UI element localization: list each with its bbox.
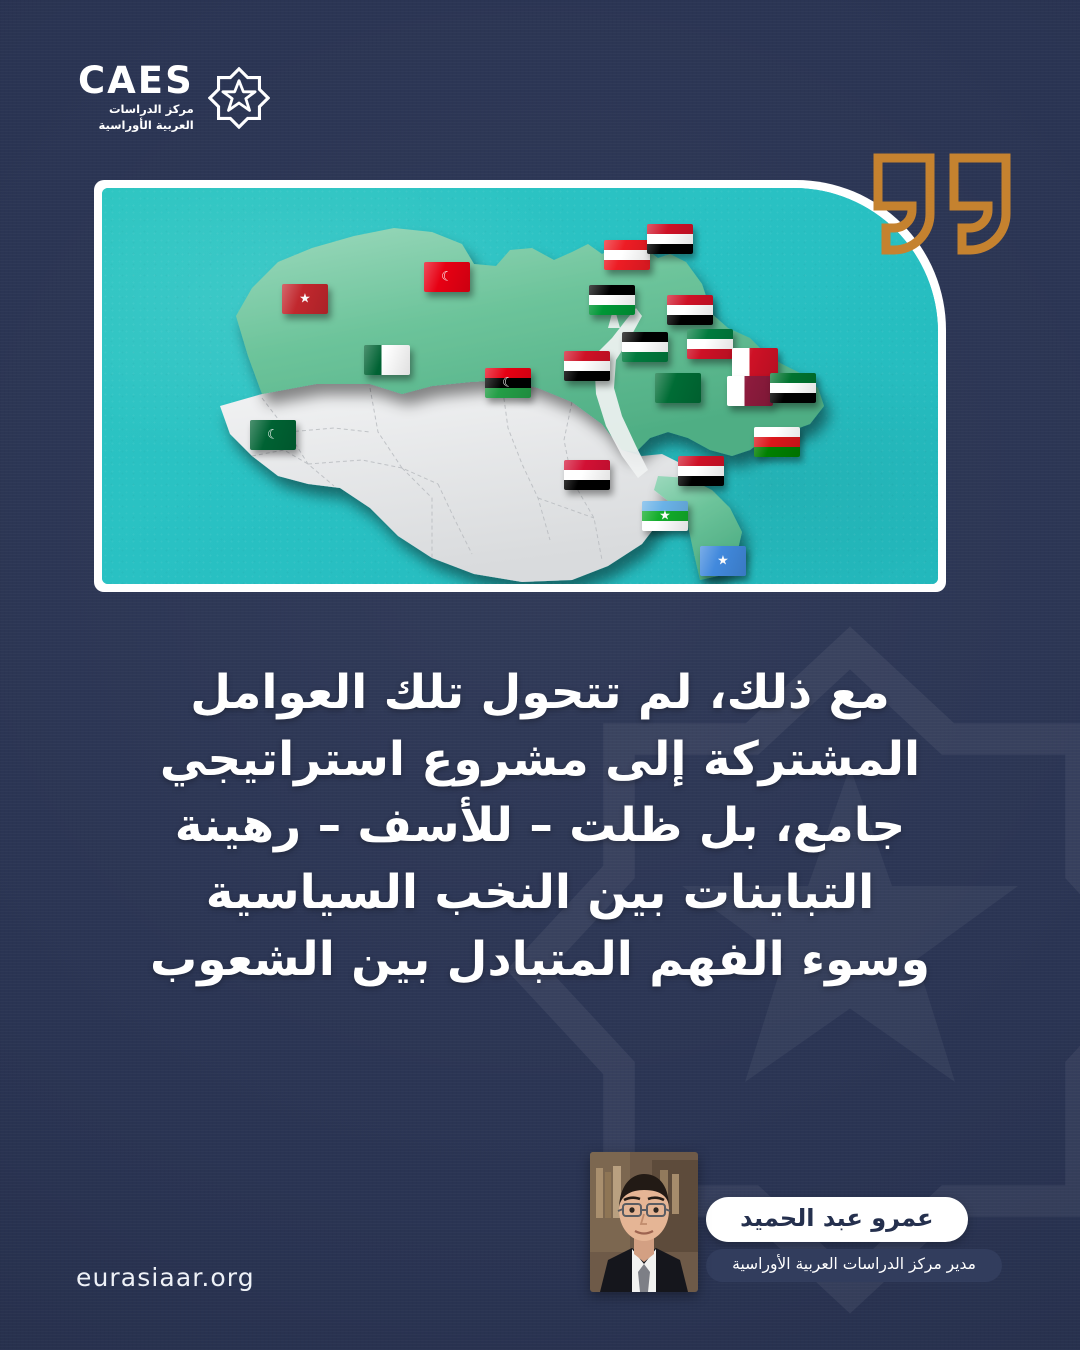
flag-yemen [678,456,724,486]
quote-line-4: التباينات بين النخب السياسية [60,860,1020,927]
flag-iraq [667,295,713,325]
quote-line-2: المشتركة إلى مشروع استراتيجي [60,727,1020,794]
flag-shine [678,456,724,486]
flag-libya: ☾ [485,368,531,398]
flag-shine [604,240,650,270]
flag-palestine [589,285,635,315]
flag-shine [754,427,800,457]
flag-sudan [564,460,610,490]
quote-line-5: وسوء الفهم المتبادل بين الشعوب [60,927,1020,994]
logo-arabic-name: مركز الدراسات العربية الأوراسية [99,102,194,133]
flag-syria [647,224,693,254]
flag-lebanon [604,240,650,270]
flag-kuwait [687,329,733,359]
flag-shine [700,546,746,576]
flag-mauritania: ☾ [250,420,296,450]
flag-shine [655,373,701,403]
flag-shine [564,460,610,490]
flag-morocco: ★ [282,284,328,314]
map-image: ★☾☾☾☾★★ [102,188,938,584]
flag-somalia: ★ [700,546,746,576]
flag-jordan [622,332,668,362]
flag-oman [754,427,800,457]
author-block: عمرو عبد الحميد مدير مركز الدراسات العرب… [590,1152,1002,1292]
flag-saudi-arabia [655,373,701,403]
flag-shine [622,332,668,362]
flag-shine [770,373,816,403]
flag-qatar [727,376,773,406]
flag-shine [642,501,688,531]
flag-uae [770,373,816,403]
quote-line-1: مع ذلك، لم تتحول تلك العوامل [60,660,1020,727]
flag-shine [667,295,713,325]
flag-shine [727,376,773,406]
flag-egypt [564,351,610,381]
author-texts: عمرو عبد الحميد مدير مركز الدراسات العرب… [706,1197,1002,1283]
flag-shine [589,285,635,315]
flag-djibouti: ★ [642,501,688,531]
quote-line-3: جامع، بل ظلت – للأسف – رهينة [60,793,1020,860]
logo-text: CAES مركز الدراسات العربية الأوراسية [78,62,194,133]
flag-shine [424,262,470,292]
author-name: عمرو عبد الحميد [706,1197,967,1242]
flag-tunisia: ☾ [424,262,470,292]
flag-shine [647,224,693,254]
flag-shine [250,420,296,450]
logo-arabic-line-2: العربية الأوراسية [99,118,194,134]
logo-wordmark: CAES [78,62,194,99]
flag-shine [282,284,328,314]
logo-arabic-line-1: مركز الدراسات [99,102,194,118]
site-url[interactable]: eurasiaar.org [76,1263,255,1292]
avatar [590,1152,698,1292]
author-role: مدير مركز الدراسات العربية الأوراسية [706,1249,1002,1283]
eight-pointed-star-icon [208,67,270,129]
quote-text: مع ذلك، لم تتحول تلك العوامل المشتركة إل… [60,660,1020,994]
flag-shine [564,351,610,381]
double-quotation-mark-icon [868,152,1018,262]
map-card: ★☾☾☾☾★★ [94,180,946,592]
caes-logo[interactable]: CAES مركز الدراسات العربية الأوراسية [78,62,270,133]
flag-shine [364,345,410,375]
flag-algeria: ☾ [364,345,410,375]
flag-shine [485,368,531,398]
flag-shine [687,329,733,359]
quote-card: CAES مركز الدراسات العربية الأوراسية [0,0,1080,1350]
